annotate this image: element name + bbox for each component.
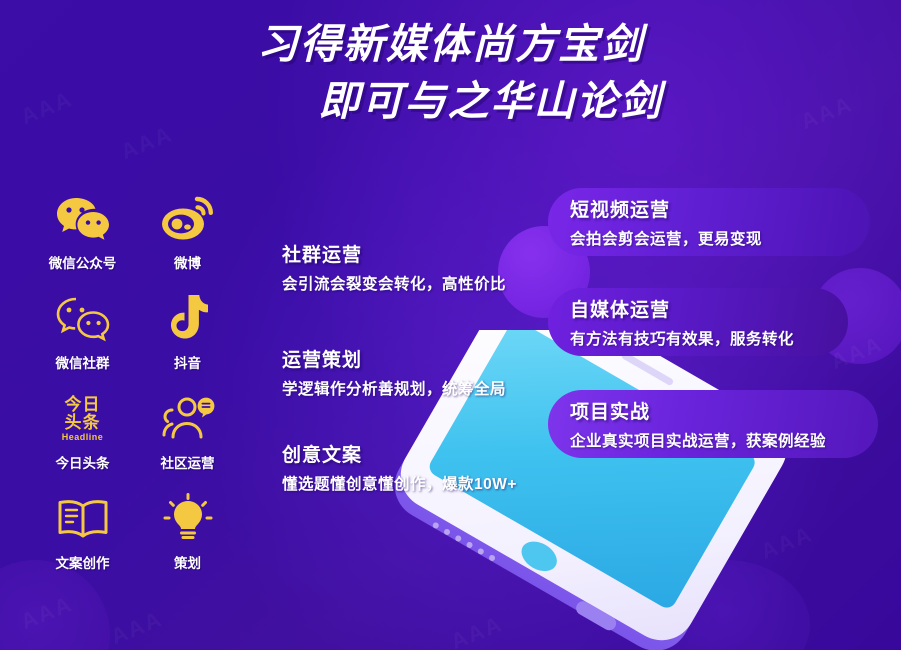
feature-block-yunying-cehua: 运营策划 学逻辑作分析善规划，统筹全局 (282, 345, 506, 399)
icon-label: 微博 (174, 252, 201, 272)
feature-subtitle: 会拍会剪会运营，更易变现 (570, 227, 870, 249)
icon-cell-planning[interactable]: 策划 (135, 490, 240, 586)
feature-title: 自媒体运营 (570, 295, 848, 322)
weibo-icon (161, 190, 215, 248)
lightbulb-icon (163, 490, 213, 548)
wechat-official-icon (55, 190, 111, 248)
icon-label: 策划 (174, 552, 201, 572)
community-people-icon (161, 390, 215, 448)
feature-block-shequn-yunying: 社群运营 会引流会裂变会转化，高性价比 (282, 240, 506, 294)
feature-title: 创意文案 (282, 440, 517, 467)
feature-subtitle: 懂选题懂创意懂创作，爆款10W+ (282, 472, 517, 494)
icon-label: 微信公众号 (49, 252, 117, 272)
icon-label: 今日头条 (56, 452, 110, 472)
watermark: AAA (107, 606, 167, 650)
icon-label: 社区运营 (161, 452, 215, 472)
icon-cell-community[interactable]: 社区运营 (135, 390, 240, 486)
feature-title: 项目实战 (570, 397, 878, 424)
feature-subtitle: 会引流会裂变会转化，高性价比 (282, 272, 506, 294)
feature-title: 社群运营 (282, 240, 506, 267)
feature-pill-duanshipin-yunying: 短视频运营 会拍会剪会运营，更易变现 (548, 188, 870, 256)
icon-cell-wechat-group[interactable]: 微信社群 (30, 290, 135, 386)
feature-pill-xiangmu-shizhan: 项目实战 企业真实项目实战运营，获案例经验 (548, 390, 878, 458)
feature-pill-zimeiti-yunying: 自媒体运营 有方法有技巧有效果，服务转化 (548, 288, 848, 356)
headline-line-1: 习得新媒体尚方宝剑 (0, 16, 901, 73)
watermark: AAA (17, 591, 77, 635)
platform-icon-grid: 微信公众号 微博 (30, 190, 240, 586)
toutiao-icon: 今日头条 Headline (62, 390, 104, 448)
icon-cell-weibo[interactable]: 微博 (135, 190, 240, 286)
wechat-group-icon (55, 290, 111, 348)
headline-line-2: 即可与之华山论剑 (0, 73, 901, 130)
feature-title: 运营策划 (282, 345, 506, 372)
feature-subtitle: 企业真实项目实战运营，获案例经验 (570, 429, 878, 451)
feature-subtitle: 学逻辑作分析善规划，统筹全局 (282, 377, 506, 399)
icon-cell-copywriting[interactable]: 文案创作 (30, 490, 135, 586)
feature-block-chuangyi-wenan: 创意文案 懂选题懂创意懂创作，爆款10W+ (282, 440, 517, 494)
feature-title: 短视频运营 (570, 195, 870, 222)
open-book-icon (56, 490, 110, 548)
douyin-icon (166, 290, 210, 348)
icon-cell-douyin[interactable]: 抖音 (135, 290, 240, 386)
feature-subtitle: 有方法有技巧有效果，服务转化 (570, 327, 848, 349)
toutiao-logo-cn: 今日头条 (62, 396, 102, 432)
icon-cell-toutiao[interactable]: 今日头条 Headline 今日头条 (30, 390, 135, 486)
headline: 习得新媒体尚方宝剑 即可与之华山论剑 (0, 16, 901, 130)
toutiao-logo-en: Headline (62, 433, 104, 442)
icon-label: 抖音 (174, 352, 201, 372)
icon-label: 微信社群 (56, 352, 110, 372)
icon-label: 文案创作 (56, 552, 110, 572)
icon-cell-wechat-official[interactable]: 微信公众号 (30, 190, 135, 286)
poster-canvas: AAA AAA AAA AAA AAA AAA AAA AAA 习得新媒体尚方宝… (0, 0, 901, 650)
